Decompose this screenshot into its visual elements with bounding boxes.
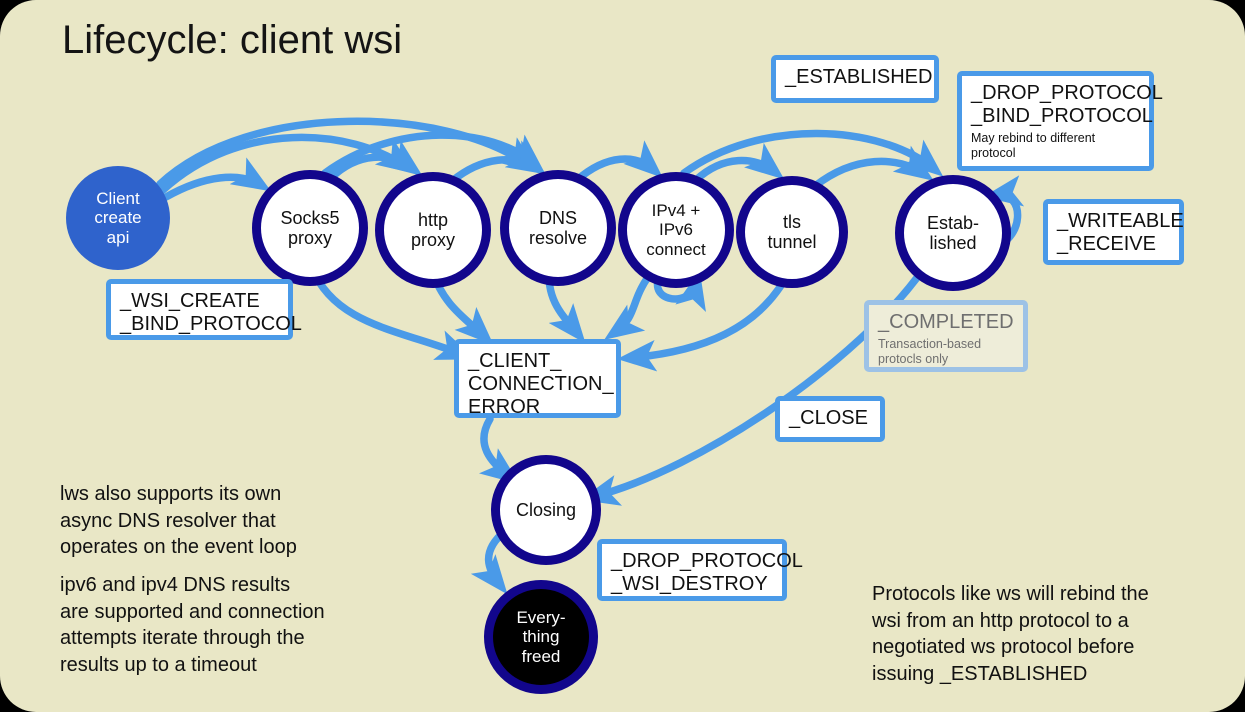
label-close[interactable]: _CLOSE — [775, 396, 885, 442]
edge-httpproxy-to-dns — [452, 160, 536, 181]
node-dns-resolve[interactable]: DNS resolve — [500, 170, 616, 286]
diagram-board: Lifecycle: client wsi — [0, 0, 1245, 712]
label-subtitle: May rebind to different protocol — [971, 131, 1140, 161]
edge-error-to-closing — [484, 419, 510, 477]
node-socks5-proxy[interactable]: Socks5 proxy — [252, 170, 368, 286]
edge-tls-to-established — [815, 161, 924, 186]
label-established-event[interactable]: _ESTABLISHED — [771, 55, 939, 103]
label-title: _WRITEABLE _RECEIVE — [1057, 210, 1170, 256]
node-label-line: proxy — [280, 228, 339, 248]
node-label-line: http — [411, 210, 455, 230]
node-label-line: Client — [94, 189, 141, 208]
node-label-line: create — [94, 208, 141, 227]
label-title: _COMPLETED — [878, 311, 1014, 334]
diagram-canvas: Lifecycle: client wsi — [0, 0, 1245, 712]
node-label-line: resolve — [529, 228, 587, 248]
node-label-line: tunnel — [767, 232, 816, 252]
node-label-line: Estab- — [927, 213, 979, 233]
node-label-line: thing — [516, 627, 565, 646]
label-drop-bind-protocol[interactable]: _DROP_PROTOCOL _BIND_PROTOCOL May rebind… — [957, 71, 1154, 171]
node-everything-freed[interactable]: Every- thing freed — [484, 580, 598, 694]
node-label-line: IPv6 — [646, 220, 706, 239]
node-label-line: tls — [767, 212, 816, 232]
label-title: _CLIENT_ CONNECTION_ ERROR — [468, 350, 607, 420]
note-rebind: Protocols like ws will rebind the wsi fr… — [872, 581, 1149, 687]
label-title: _CLOSE — [789, 407, 871, 430]
label-title: _DROP_PROTOCOL _BIND_PROTOCOL — [971, 82, 1140, 128]
node-established[interactable]: Estab- lished — [895, 175, 1011, 291]
label-title: _DROP_PROTOCOL _WSI_DESTROY — [611, 550, 773, 596]
node-closing[interactable]: Closing — [491, 455, 601, 565]
node-label-line: lished — [927, 233, 979, 253]
node-label-line: DNS — [529, 208, 587, 228]
node-label-line: freed — [516, 647, 565, 666]
node-label-line: Closing — [516, 500, 576, 520]
node-ipv4-ipv6-connect[interactable]: IPv4 + IPv6 connect — [618, 172, 734, 288]
label-subtitle: Transaction-based protocls only — [878, 337, 1014, 367]
node-http-proxy[interactable]: http proxy — [375, 172, 491, 288]
label-title: _ESTABLISHED — [785, 66, 925, 89]
label-client-connection-error[interactable]: _CLIENT_ CONNECTION_ ERROR — [454, 339, 621, 418]
label-writeable-receive[interactable]: _WRITEABLE _RECEIVE — [1043, 199, 1184, 265]
node-label-line: api — [94, 228, 141, 247]
note-ipv6-ipv4: ipv6 and ipv4 DNS results are supported … — [60, 572, 325, 678]
node-label-line: Every- — [516, 608, 565, 627]
label-wsi-create[interactable]: _WSI_CREATE _BIND_PROTOCOL — [106, 279, 293, 340]
node-label-line: Socks5 — [280, 208, 339, 228]
node-tls-tunnel[interactable]: tls tunnel — [736, 176, 848, 288]
node-label-line: proxy — [411, 230, 455, 250]
label-drop-wsi-destroy[interactable]: _DROP_PROTOCOL _WSI_DESTROY — [597, 539, 787, 601]
label-title: _WSI_CREATE _BIND_PROTOCOL — [120, 290, 279, 336]
node-label-line: IPv4 + — [646, 201, 706, 220]
node-client-create-api[interactable]: Client create api — [66, 166, 170, 270]
edge-dns-to-ipv46 — [577, 159, 654, 180]
label-completed[interactable]: _COMPLETED Transaction-based protocls on… — [864, 300, 1028, 372]
edge-ipv46-to-tls — [696, 161, 775, 180]
node-label-line: connect — [646, 240, 706, 259]
note-async-dns: lws also supports its own async DNS reso… — [60, 481, 297, 561]
